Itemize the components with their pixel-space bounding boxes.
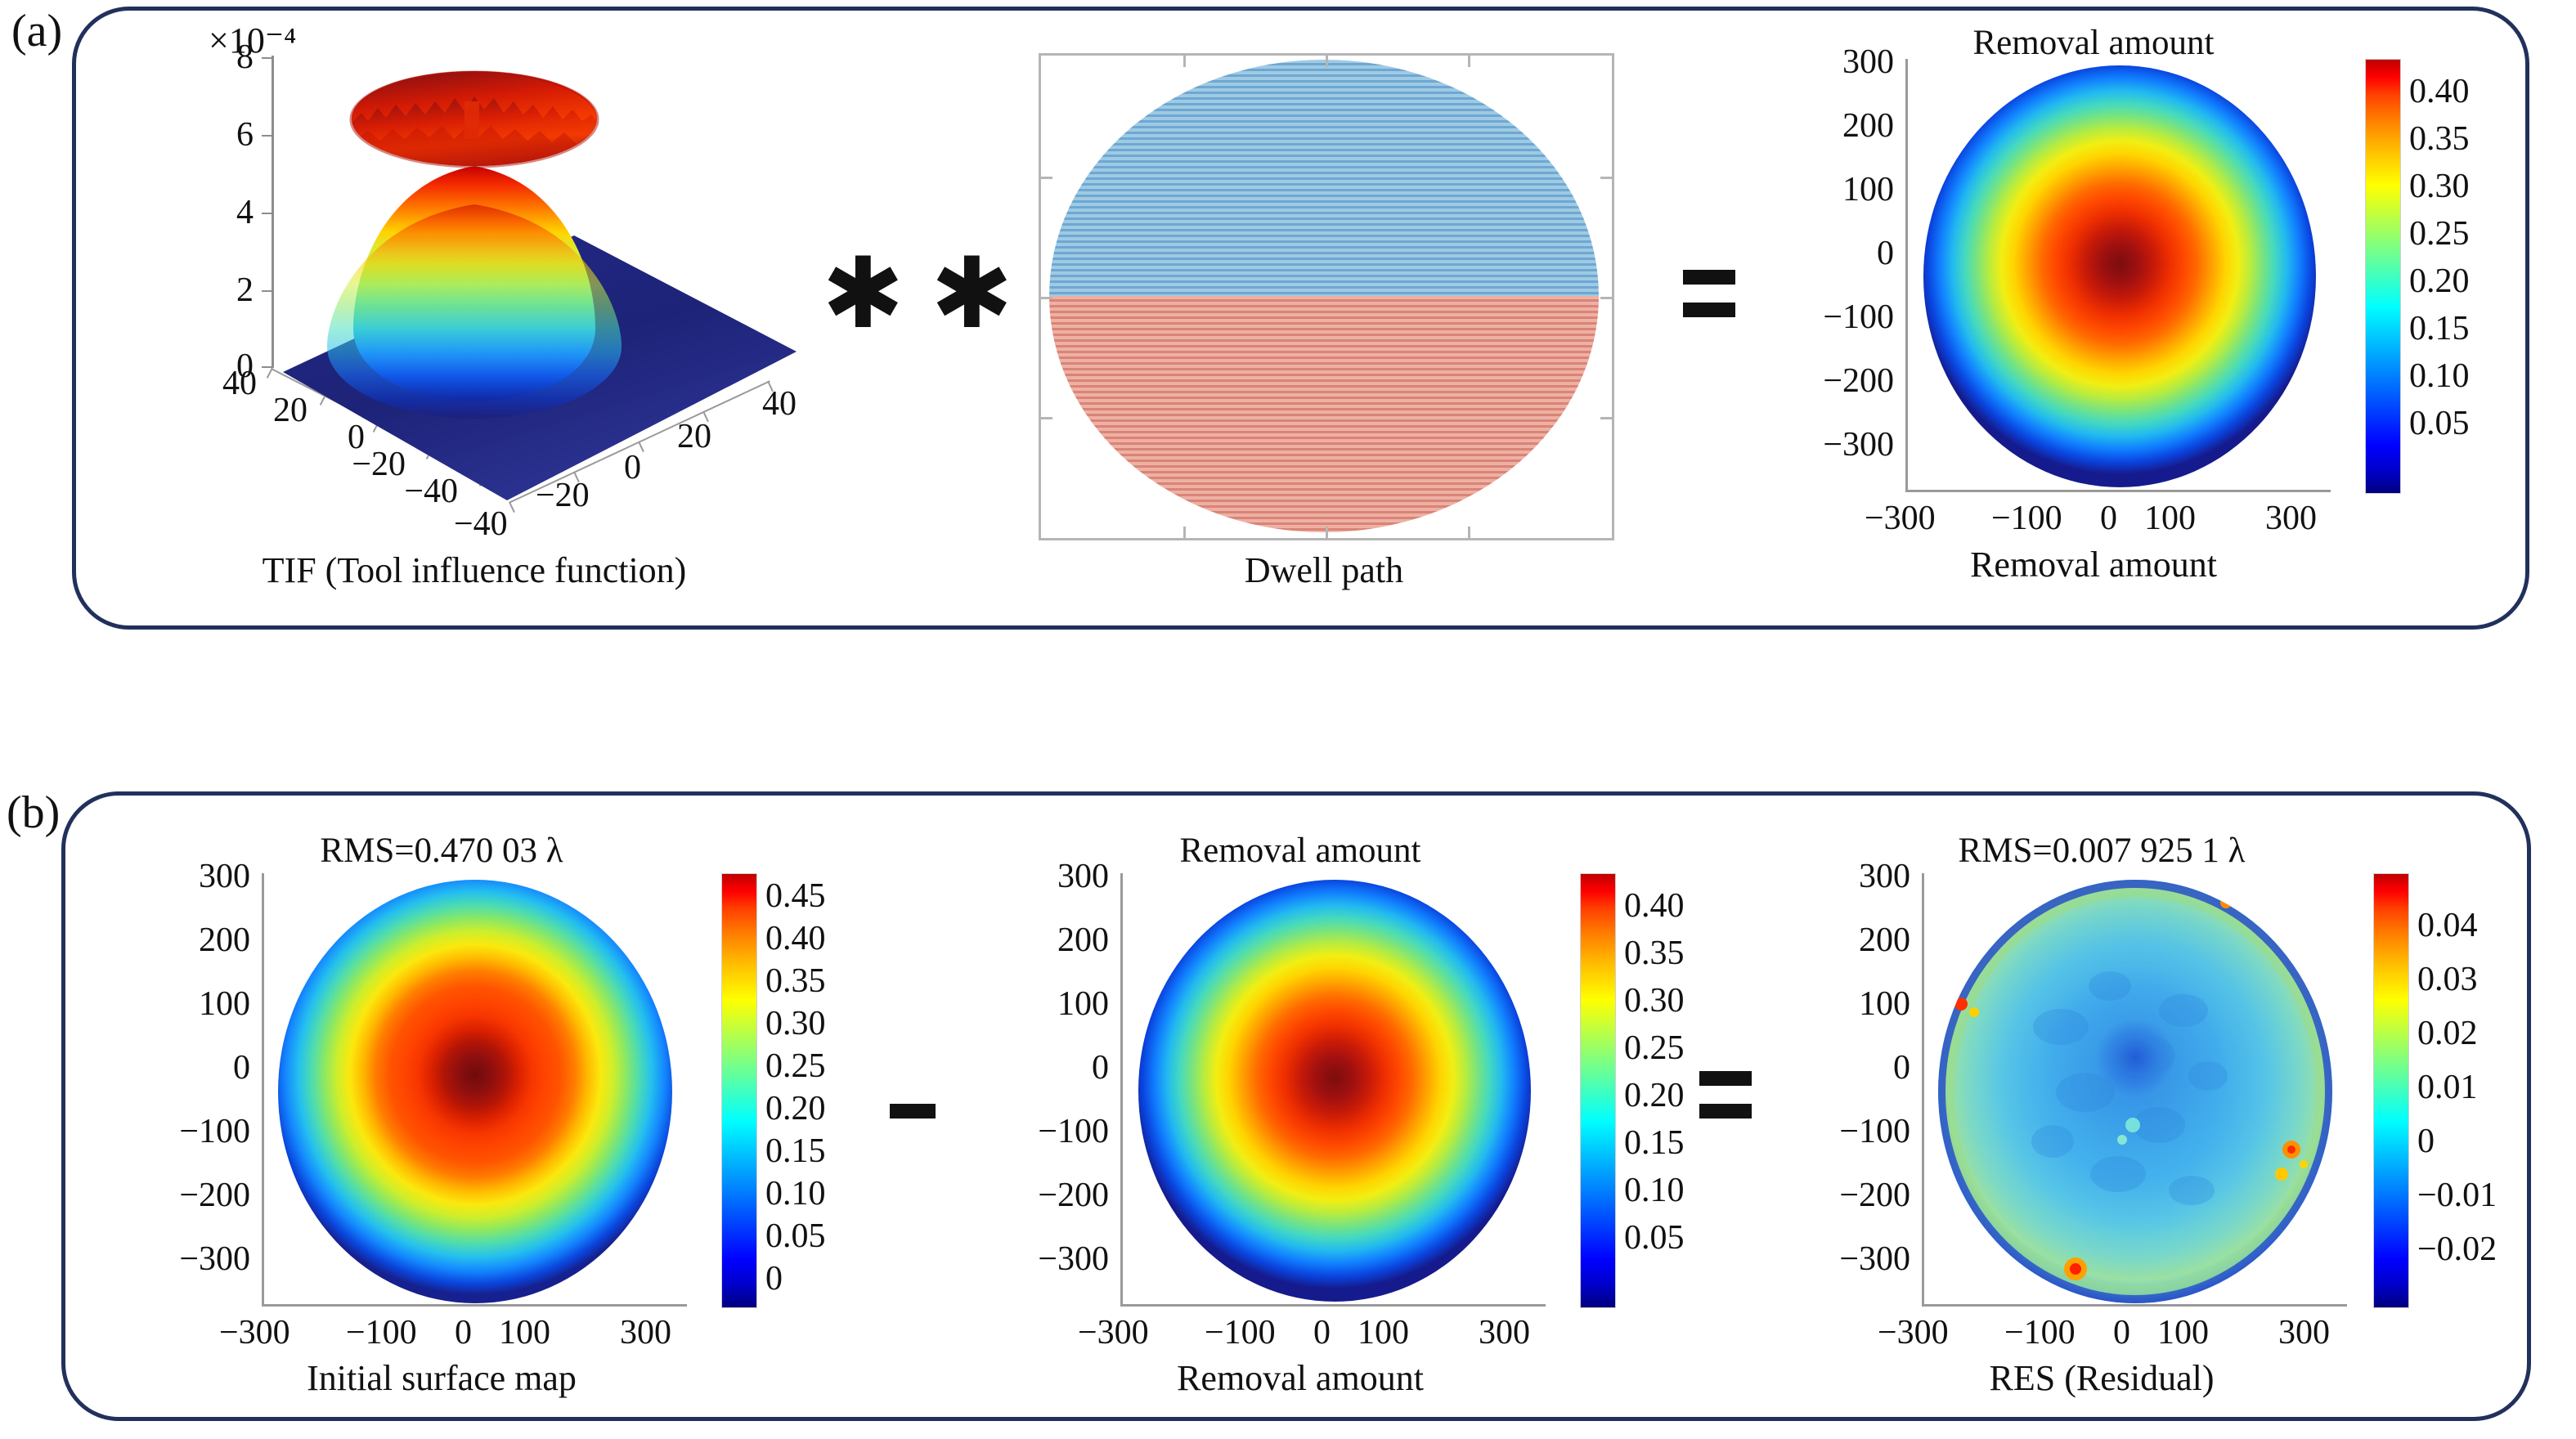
dwell-tick bbox=[1600, 177, 1612, 179]
y-tick-label: 100 bbox=[1775, 170, 1894, 209]
colorbar-tick-label: 0.25 bbox=[2409, 214, 2470, 253]
x-tick-label: −300 bbox=[1878, 1313, 1949, 1352]
colorbar-tick-label: 0.15 bbox=[1624, 1123, 1685, 1163]
y-tick-label: 300 bbox=[990, 857, 1109, 896]
residual-caption: RES (Residual) bbox=[1873, 1357, 2331, 1399]
y-axis-line bbox=[1120, 873, 1123, 1307]
y-tick-label: 0 bbox=[1791, 1048, 1910, 1087]
x-tick-label: 100 bbox=[2144, 499, 2196, 538]
initial-surface-map-colorbar bbox=[721, 873, 757, 1308]
x-tick-label: 300 bbox=[620, 1313, 671, 1352]
x-tick-label: −300 bbox=[219, 1313, 290, 1352]
y-tick-label: −100 bbox=[1775, 298, 1894, 337]
x-tick-label: 300 bbox=[2278, 1313, 2330, 1352]
x-tick-label: 300 bbox=[1479, 1313, 1530, 1352]
removal-amount-a-title: Removal amount bbox=[1873, 23, 2314, 63]
colorbar-tick-label: −0.01 bbox=[2417, 1176, 2497, 1215]
colorbar-tick-label: 0.35 bbox=[2409, 119, 2470, 159]
colorbar-tick-label: 0.05 bbox=[2409, 404, 2470, 443]
x-tick-label: 100 bbox=[1358, 1313, 1409, 1352]
colorbar-tick-label: 0 bbox=[2417, 1122, 2435, 1161]
y-tick-label: 100 bbox=[990, 984, 1109, 1024]
colorbar-tick-label: 0.15 bbox=[2409, 309, 2470, 348]
dwell-tick bbox=[1041, 177, 1052, 179]
removal-amount-b-figure: Removal amount 300 200 100 0 −100 −200 −… bbox=[965, 826, 1701, 1414]
residual-axes bbox=[1922, 873, 2347, 1307]
tif-figure: ×10⁻⁴ 8 6 4 2 0 40 20 0 −20 −40 −40 −20 … bbox=[123, 16, 826, 621]
y-tick-label: −200 bbox=[1775, 361, 1894, 401]
dwell-path-upper-half bbox=[1049, 60, 1599, 296]
initial-surface-map-caption: Initial surface map bbox=[213, 1357, 671, 1399]
x-axis-line bbox=[1120, 1304, 1546, 1307]
x-tick-label: −100 bbox=[2004, 1313, 2076, 1352]
colorbar-tick-label: 0.40 bbox=[1624, 886, 1685, 926]
y-tick-label: 100 bbox=[131, 984, 250, 1024]
colorbar-tick-label: 0.35 bbox=[1624, 934, 1685, 973]
y-tick-label: −300 bbox=[1791, 1240, 1910, 1279]
dwell-tick bbox=[1041, 297, 1052, 299]
dwell-tick bbox=[1326, 56, 1328, 67]
colorbar-tick-label: 0.10 bbox=[1624, 1171, 1685, 1210]
y-tick-label: 0 bbox=[131, 1048, 250, 1087]
y-tick-label: 200 bbox=[1791, 921, 1910, 960]
colorbar-tick-label: 0 bbox=[765, 1259, 783, 1298]
initial-surface-map-figure: RMS=0.470 03 λ 300 200 100 0 −100 −200 −… bbox=[98, 826, 859, 1414]
y-tick-label: −100 bbox=[1791, 1112, 1910, 1151]
removal-amount-a-figure: Removal amount 300 200 100 0 −100 −200 −… bbox=[1750, 16, 2502, 621]
colorbar-tick-label: 0.03 bbox=[2417, 960, 2478, 999]
dwell-path-aperture bbox=[1049, 60, 1599, 532]
colorbar-tick-label: 0.02 bbox=[2417, 1014, 2478, 1053]
residual-defects bbox=[1938, 880, 2332, 1303]
convolution-operator-icon: ✱ bbox=[822, 245, 904, 343]
y-tick-label: 200 bbox=[990, 921, 1109, 960]
initial-surface-map-heatmap bbox=[278, 880, 672, 1303]
dwell-tick bbox=[1326, 527, 1328, 538]
y-tick-label: 300 bbox=[1775, 43, 1894, 82]
dwell-path-axes bbox=[1039, 53, 1614, 540]
colorbar-tick-label: 0.30 bbox=[2409, 167, 2470, 206]
y-axis-line bbox=[262, 873, 264, 1307]
colorbar-tick-label: 0.45 bbox=[765, 876, 826, 916]
minus-operator-icon bbox=[890, 1104, 936, 1118]
x-axis-line bbox=[1922, 1304, 2347, 1307]
colorbar-tick-label: 0.01 bbox=[2417, 1068, 2478, 1107]
y-tick-label: −300 bbox=[1775, 425, 1894, 464]
colorbar-tick-label: 0.20 bbox=[1624, 1076, 1685, 1115]
dwell-tick bbox=[1041, 417, 1052, 419]
panel-b-tag: (b) bbox=[7, 787, 60, 839]
x-axis-line bbox=[1905, 490, 2331, 492]
x-tick-label: 100 bbox=[2157, 1313, 2209, 1352]
x-tick-label: 0 bbox=[455, 1313, 472, 1352]
x-tick-label: −100 bbox=[1991, 499, 2062, 538]
dwell-path-figure: Dwell path bbox=[1039, 16, 1627, 621]
x-tick-label: −300 bbox=[1865, 499, 1936, 538]
y-tick-label: −300 bbox=[990, 1240, 1109, 1279]
colorbar-tick-label: 0.05 bbox=[765, 1217, 826, 1256]
y-tick-label: 300 bbox=[1791, 857, 1910, 896]
y-tick-label: −200 bbox=[131, 1176, 250, 1215]
removal-amount-b-caption: Removal amount bbox=[1071, 1357, 1529, 1399]
removal-amount-b-axes bbox=[1120, 873, 1546, 1307]
colorbar-tick-label: 0.05 bbox=[1624, 1218, 1685, 1257]
initial-surface-map-title: RMS=0.470 03 λ bbox=[213, 831, 671, 871]
colorbar-tick-label: 0.25 bbox=[1624, 1029, 1685, 1068]
y-tick-label: −200 bbox=[990, 1176, 1109, 1215]
removal-amount-a-caption: Removal amount bbox=[1873, 544, 2314, 585]
y-tick-label: 300 bbox=[131, 857, 250, 896]
tif-surface-plot bbox=[123, 16, 826, 540]
tif-caption: TIF (Tool influence function) bbox=[123, 549, 826, 591]
removal-amount-a-colorbar bbox=[2365, 59, 2401, 494]
colorbar-tick-label: 0.15 bbox=[765, 1132, 826, 1171]
y-tick-label: 0 bbox=[1775, 234, 1894, 273]
x-tick-label: 0 bbox=[2113, 1313, 2130, 1352]
colorbar-tick-label: 0.35 bbox=[765, 962, 826, 1001]
residual-colorbar bbox=[2373, 873, 2409, 1308]
x-tick-label: 0 bbox=[2100, 499, 2117, 538]
colorbar-tick-label: 0.04 bbox=[2417, 906, 2478, 945]
y-tick-label: −300 bbox=[131, 1240, 250, 1279]
colorbar-tick-label: 0.40 bbox=[765, 919, 826, 958]
x-tick-label: −300 bbox=[1078, 1313, 1149, 1352]
dwell-tick bbox=[1600, 417, 1612, 419]
x-tick-label: −100 bbox=[346, 1313, 417, 1352]
dwell-tick bbox=[1468, 527, 1470, 538]
colorbar-tick-label: 0.25 bbox=[765, 1047, 826, 1086]
colorbar-tick-label: 0.30 bbox=[1624, 981, 1685, 1020]
dwell-path-caption: Dwell path bbox=[1039, 549, 1609, 591]
y-tick-label: 0 bbox=[990, 1048, 1109, 1087]
dwell-tick bbox=[1600, 297, 1612, 299]
removal-amount-a-heatmap bbox=[1923, 65, 2316, 487]
removal-amount-a-axes bbox=[1905, 59, 2331, 492]
x-tick-label: −100 bbox=[1205, 1313, 1276, 1352]
colorbar-tick-label: 0.20 bbox=[765, 1089, 826, 1128]
residual-title: RMS=0.007 925 1 λ bbox=[1848, 831, 2355, 871]
removal-amount-b-colorbar bbox=[1580, 873, 1616, 1308]
y-tick-label: −100 bbox=[990, 1112, 1109, 1151]
residual-heatmap bbox=[1938, 880, 2332, 1303]
convolution-operator-icon: ✱ bbox=[931, 245, 1013, 343]
residual-figure: RMS=0.007 925 1 λ bbox=[1766, 826, 2519, 1414]
colorbar-tick-label: −0.02 bbox=[2417, 1230, 2497, 1269]
y-tick-label: −200 bbox=[1791, 1176, 1910, 1215]
panel-a-tag: (a) bbox=[11, 5, 62, 57]
initial-surface-map-axes bbox=[262, 873, 687, 1307]
y-tick-label: 200 bbox=[1775, 106, 1894, 146]
colorbar-tick-label: 0.10 bbox=[2409, 356, 2470, 396]
dwell-tick bbox=[1183, 56, 1186, 67]
removal-amount-b-title: Removal amount bbox=[1071, 831, 1529, 871]
y-tick-label: 200 bbox=[131, 921, 250, 960]
removal-amount-b-heatmap bbox=[1138, 880, 1531, 1302]
dwell-tick bbox=[1468, 56, 1470, 67]
x-tick-label: 100 bbox=[499, 1313, 550, 1352]
x-axis-line bbox=[262, 1304, 687, 1307]
y-tick-label: −100 bbox=[131, 1112, 250, 1151]
x-tick-label: 0 bbox=[1313, 1313, 1331, 1352]
y-tick-label: 100 bbox=[1791, 984, 1910, 1024]
dwell-path-lower-half bbox=[1049, 296, 1599, 532]
y-axis-line bbox=[1922, 873, 1924, 1307]
colorbar-tick-label: 0.10 bbox=[765, 1174, 826, 1213]
colorbar-tick-label: 0.40 bbox=[2409, 72, 2470, 111]
colorbar-tick-label: 0.20 bbox=[2409, 262, 2470, 301]
dwell-tick bbox=[1183, 527, 1186, 538]
x-tick-label: 300 bbox=[2265, 499, 2317, 538]
y-axis-line bbox=[1905, 59, 1908, 492]
colorbar-tick-label: 0.30 bbox=[765, 1004, 826, 1043]
